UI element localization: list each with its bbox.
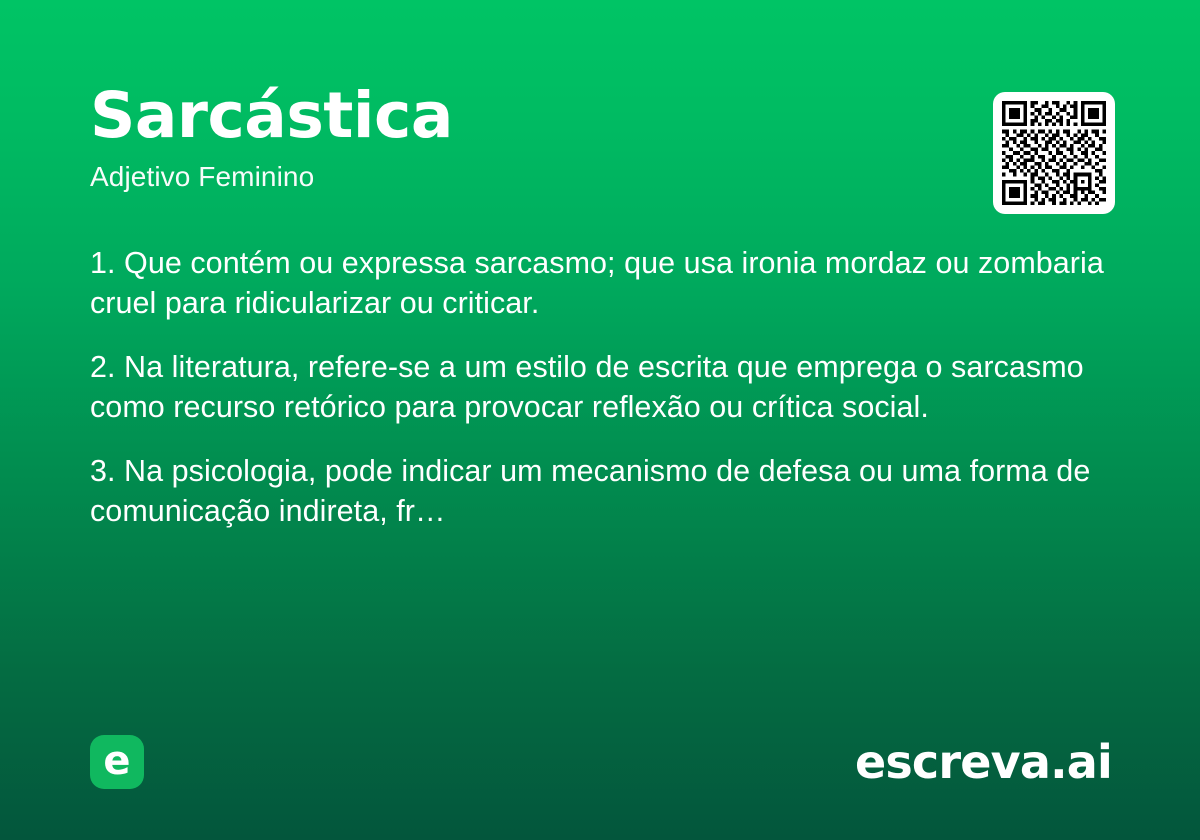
definition-item: 3. Na psicologia, pode indicar um mecani… [90, 452, 1110, 531]
qr-code-icon [1002, 101, 1106, 205]
brand-logo-icon: e [90, 735, 144, 789]
definition-item: 1. Que contém ou expressa sarcasmo; que … [90, 244, 1110, 323]
brand-wordmark: escreva.ai [855, 737, 1112, 787]
definitions-list: 1. Que contém ou expressa sarcasmo; que … [90, 244, 1110, 531]
brand-logo-letter: e [103, 741, 130, 781]
definition-item: 2. Na literatura, refere-se a um estilo … [90, 348, 1110, 427]
page-title: Sarcástica [90, 82, 1110, 150]
card-header: Sarcástica Adjetivo Feminino [90, 82, 1110, 212]
dictionary-card: Sarcástica Adjetivo Feminino [0, 0, 1200, 840]
word-class-label: Adjetivo Feminino [90, 150, 1110, 194]
qr-code-panel[interactable] [993, 92, 1115, 214]
card-footer: e escreva.ai [90, 734, 1112, 790]
